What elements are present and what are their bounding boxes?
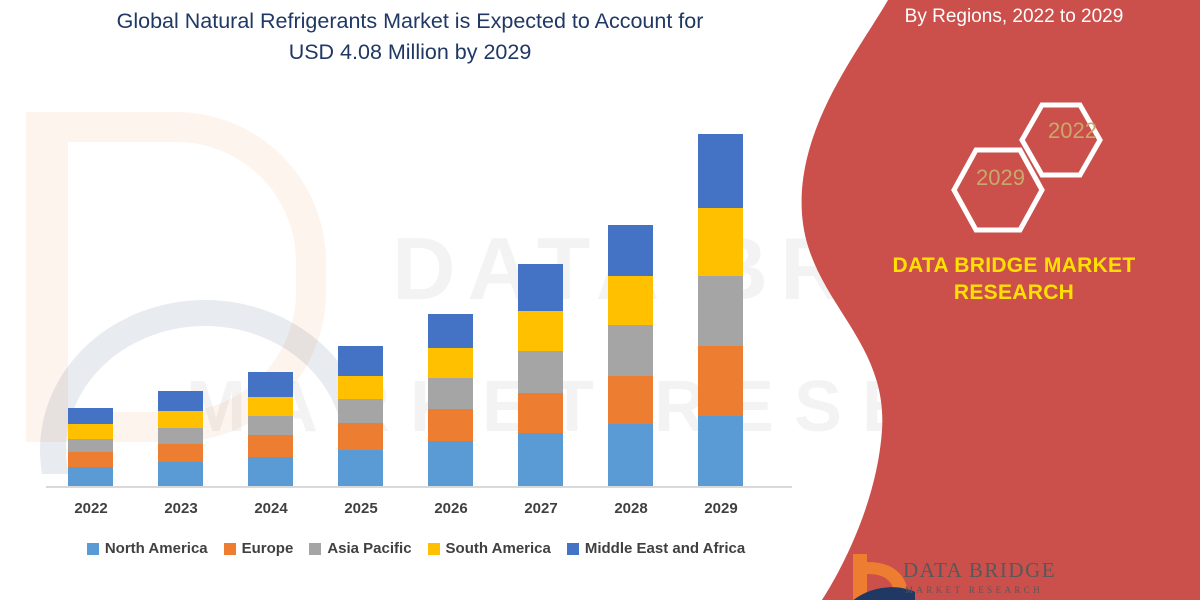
- legend-swatch-icon: [567, 543, 579, 555]
- bar-segment-north-america: [608, 424, 653, 486]
- bar-segment-asia-pacific: [428, 378, 473, 408]
- hexagon-label-2022: 2022: [1048, 118, 1097, 144]
- bar-segment-middle-east-and-africa: [68, 408, 113, 424]
- bar-segment-asia-pacific: [518, 351, 563, 393]
- bar-segment-south-america: [428, 348, 473, 378]
- stacked-bar-2022: [68, 408, 113, 486]
- x-axis-label-2022: 2022: [46, 500, 136, 517]
- stacked-bar-2023: [158, 391, 203, 486]
- x-axis-label-2026: 2026: [406, 500, 496, 517]
- x-axis-label-2023: 2023: [136, 500, 226, 517]
- bar-segment-south-america: [248, 397, 293, 416]
- bar-segment-south-america: [338, 376, 383, 399]
- bar-segment-south-america: [518, 311, 563, 351]
- stacked-bar-2029: [698, 134, 743, 486]
- bar-segment-europe: [338, 423, 383, 449]
- page-title: Global Natural Refrigerants Market is Ex…: [60, 6, 760, 68]
- title-line-2: USD 4.08 Million by 2029: [60, 37, 760, 68]
- bar-segment-north-america: [68, 467, 113, 486]
- stacked-bar-2027: [518, 264, 563, 486]
- bar-segment-europe: [248, 435, 293, 457]
- brand-line-1: DATA BRIDGE MARKET: [893, 254, 1136, 277]
- bar-segment-south-america: [698, 208, 743, 276]
- bar-segment-middle-east-and-africa: [428, 314, 473, 348]
- stacked-bar-2025: [338, 346, 383, 486]
- chart-plot-area: 20222023202420252026202720282029: [0, 0, 810, 600]
- bar-segment-north-america: [248, 457, 293, 486]
- bar-segment-asia-pacific: [158, 428, 203, 444]
- legend-item-middle-east-and-africa[interactable]: Middle East and Africa: [567, 540, 745, 557]
- panel-subtitle: By Regions, 2022 to 2029: [780, 6, 1200, 28]
- x-axis-label-2027: 2027: [496, 500, 586, 517]
- bar-segment-europe: [698, 346, 743, 416]
- legend-swatch-icon: [309, 543, 321, 555]
- stacked-bar-2024: [248, 372, 293, 486]
- legend-swatch-icon: [428, 543, 440, 555]
- bar-segment-middle-east-and-africa: [698, 134, 743, 208]
- bar-segment-europe: [158, 444, 203, 462]
- x-axis-label-2024: 2024: [226, 500, 316, 517]
- bar-segment-north-america: [518, 433, 563, 486]
- legend-label: Middle East and Africa: [585, 540, 745, 557]
- bar-segment-europe: [608, 376, 653, 423]
- bar-segment-europe: [68, 452, 113, 467]
- brand-name: DATA BRIDGE MARKET RESEARCH: [828, 252, 1200, 306]
- infographic-canvas: DATA BRIDGE MARKET RESEARCH 202220232024…: [0, 0, 1200, 600]
- x-axis-line: [46, 486, 792, 488]
- title-line-1: Global Natural Refrigerants Market is Ex…: [117, 9, 704, 33]
- bar-segment-middle-east-and-africa: [338, 346, 383, 376]
- bar-segment-middle-east-and-africa: [158, 391, 203, 411]
- bar-segment-asia-pacific: [698, 276, 743, 347]
- bar-segment-middle-east-and-africa: [608, 225, 653, 277]
- bar-segment-north-america: [158, 462, 203, 486]
- legend-label: Europe: [242, 540, 294, 557]
- legend-label: South America: [446, 540, 551, 557]
- bar-segment-middle-east-and-africa: [518, 264, 563, 310]
- bar-segment-asia-pacific: [608, 325, 653, 377]
- legend-label: North America: [105, 540, 208, 557]
- legend-item-south-america[interactable]: South America: [428, 540, 551, 557]
- bar-segment-north-america: [428, 441, 473, 486]
- bar-segment-europe: [428, 409, 473, 441]
- logo-wordmark: DATA BRIDGE: [903, 558, 1056, 583]
- x-axis-label-2025: 2025: [316, 500, 406, 517]
- legend-item-north-america[interactable]: North America: [87, 540, 208, 557]
- chart-legend: North AmericaEuropeAsia PacificSouth Ame…: [46, 540, 786, 557]
- bar-segment-north-america: [698, 416, 743, 486]
- bar-segment-north-america: [338, 450, 383, 486]
- legend-item-asia-pacific[interactable]: Asia Pacific: [309, 540, 411, 557]
- logo-tagline: MARKET RESEARCH: [905, 585, 1043, 595]
- brand-line-2: RESEARCH: [954, 281, 1074, 304]
- hexagon-label-2029: 2029: [976, 165, 1025, 191]
- brand-panel: 2022 2029 By Regions, 2022 to 2029 DATA …: [780, 0, 1200, 600]
- bar-segment-middle-east-and-africa: [248, 372, 293, 396]
- stacked-bar-2026: [428, 314, 473, 486]
- bar-segment-south-america: [158, 411, 203, 427]
- bar-segment-south-america: [68, 424, 113, 438]
- legend-swatch-icon: [87, 543, 99, 555]
- legend-item-europe[interactable]: Europe: [224, 540, 294, 557]
- bar-segment-asia-pacific: [68, 439, 113, 452]
- x-axis-label-2028: 2028: [586, 500, 676, 517]
- bar-segment-asia-pacific: [338, 399, 383, 423]
- bar-segment-south-america: [608, 276, 653, 324]
- x-axis-label-2029: 2029: [676, 500, 766, 517]
- legend-label: Asia Pacific: [327, 540, 411, 557]
- bar-segment-asia-pacific: [248, 416, 293, 435]
- bar-segment-europe: [518, 393, 563, 432]
- legend-swatch-icon: [224, 543, 236, 555]
- stacked-bar-2028: [608, 225, 653, 486]
